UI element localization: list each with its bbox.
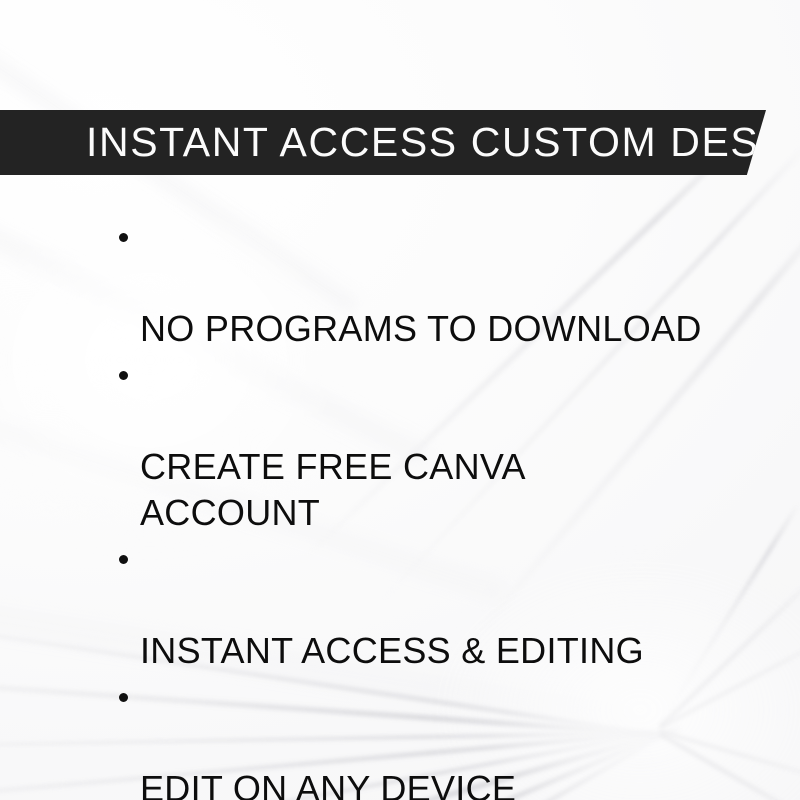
page-title: INSTANT ACCESS CUSTOM DESIGNS — [86, 122, 800, 163]
bullet-icon — [119, 693, 128, 702]
list-item: INSTANT ACCESS & EDITING — [112, 536, 712, 674]
bullet-icon — [119, 233, 128, 242]
bullet-icon — [119, 371, 128, 380]
list-item-label: INSTANT ACCESS & EDITING — [140, 630, 644, 671]
poster-canvas: INSTANT ACCESS CUSTOM DESIGNS NO PROGRAM… — [0, 0, 800, 800]
title-banner: INSTANT ACCESS CUSTOM DESIGNS — [0, 110, 766, 175]
list-item-label: NO PROGRAMS TO DOWNLOAD — [140, 308, 702, 349]
list-item: NO PROGRAMS TO DOWNLOAD — [112, 214, 712, 352]
list-item: EDIT ON ANY DEVICE — [112, 674, 712, 800]
feature-list: NO PROGRAMS TO DOWNLOAD CREATE FREE CANV… — [112, 214, 712, 800]
list-item: CREATE FREE CANVA ACCOUNT — [112, 352, 712, 536]
list-item-label: EDIT ON ANY DEVICE — [140, 768, 516, 800]
list-item-label: CREATE FREE CANVA ACCOUNT — [140, 446, 524, 533]
bullet-icon — [119, 555, 128, 564]
